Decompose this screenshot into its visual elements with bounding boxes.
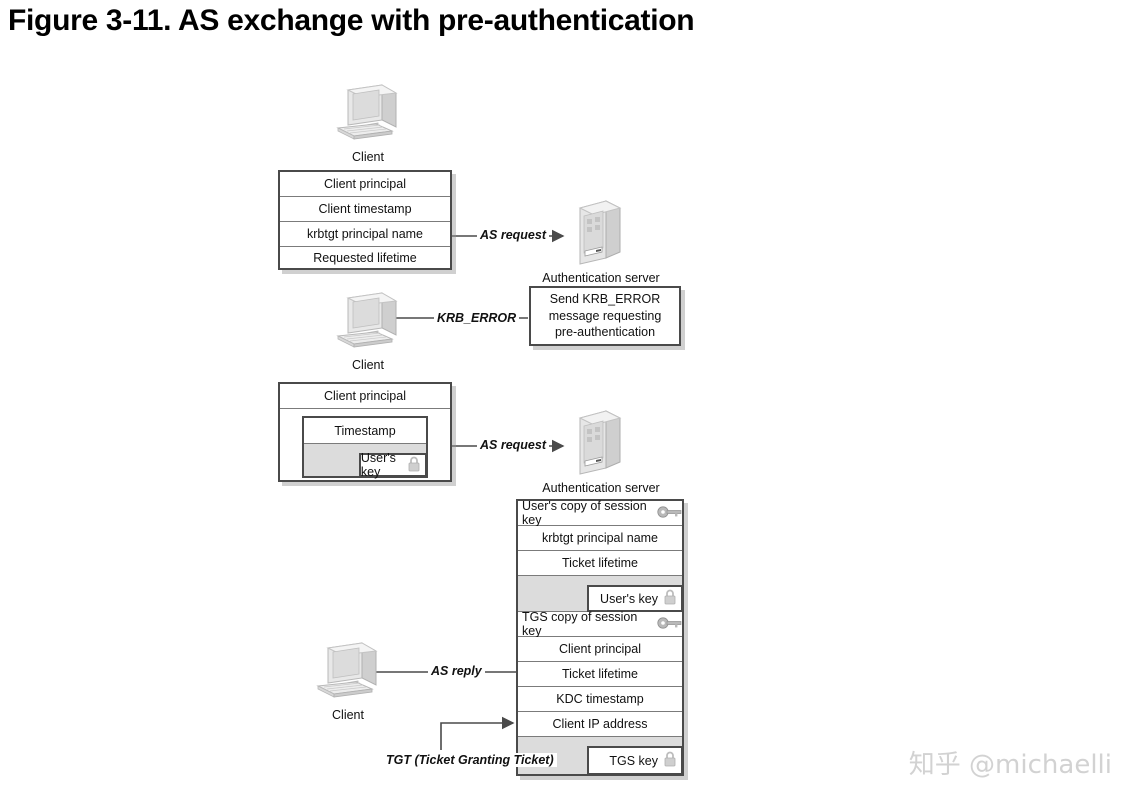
msg-row: KDC timestamp — [518, 687, 682, 712]
as-reply-message: User's copy of session key krbtgt princi… — [516, 499, 684, 776]
desktop-computer-icon — [330, 82, 405, 147]
msg-row: Client timestamp — [280, 197, 450, 222]
msg-row: TGS copy of session key — [518, 612, 682, 637]
msg-row: Client principal — [280, 384, 450, 409]
msg-row: User's copy of session key — [518, 501, 682, 526]
msg-row: krbtgt principal name — [518, 526, 682, 551]
lock-icon — [663, 589, 677, 608]
msg-row: Ticket lifetime — [518, 662, 682, 687]
desktop-computer-icon — [330, 290, 405, 355]
encryption-key-label: User's key — [600, 592, 658, 606]
as-reply-label: AS reply — [428, 664, 485, 678]
encryption-key-box: User's key — [359, 453, 427, 477]
msg-row: Client principal — [280, 172, 450, 197]
msg-row-label: User's copy of session key — [522, 499, 652, 527]
server-tower-icon — [570, 196, 628, 268]
krb-error-line-1: Send KRB_ERROR — [550, 291, 660, 308]
pre-auth-nested-box: Timestamp User's key — [302, 416, 428, 478]
encryption-key-box: User's key — [587, 585, 683, 612]
krb-error-flow-label: KRB_ERROR — [434, 311, 519, 325]
as-request-message-1: Client principal Client timestamp krbtgt… — [278, 170, 452, 270]
krb-error-line-2: message requesting — [549, 308, 662, 325]
encryption-key-label: TGS key — [609, 754, 658, 768]
lock-icon — [663, 751, 677, 770]
msg-row-label: TGS copy of session key — [522, 610, 646, 638]
key-icon — [656, 617, 682, 632]
msg-row: Ticket lifetime — [518, 551, 682, 576]
auth-server-2-label: Authentication server — [531, 481, 671, 495]
msg-row: krbtgt principal name — [280, 222, 450, 247]
msg-row: Requested lifetime — [280, 247, 450, 268]
kerberos-as-exchange-diagram: Client Client principal Client timestamp… — [0, 0, 1126, 807]
msg-row: Client IP address — [518, 712, 682, 737]
client-1-label: Client — [318, 150, 418, 164]
server-tower-icon — [570, 406, 628, 478]
encryption-key-label: User's key — [361, 451, 402, 479]
watermark: 知乎 @michaelli — [909, 744, 1112, 781]
encrypted-row: User's key — [304, 444, 426, 476]
client-2-label: Client — [318, 358, 418, 372]
msg-row: Client principal — [518, 637, 682, 662]
lock-icon — [407, 456, 421, 475]
as-request-message-2: Client principal Timestamp User's key — [278, 382, 452, 482]
key-icon — [656, 506, 682, 521]
desktop-computer-icon — [310, 640, 385, 705]
encrypted-row: User's key — [518, 576, 682, 612]
krb-error-line-3: pre-authentication — [555, 324, 655, 341]
client-3-label: Client — [298, 708, 398, 722]
as-request-1-label: AS request — [477, 228, 549, 242]
as-request-2-label: AS request — [477, 438, 549, 452]
krb-error-message-box: Send KRB_ERROR message requesting pre-au… — [529, 286, 681, 346]
tgt-annotation-label: TGT (Ticket Granting Ticket) — [383, 753, 557, 767]
auth-server-1-label: Authentication server — [531, 271, 671, 285]
encryption-key-box: TGS key — [587, 746, 683, 775]
msg-row: Timestamp — [304, 418, 426, 444]
